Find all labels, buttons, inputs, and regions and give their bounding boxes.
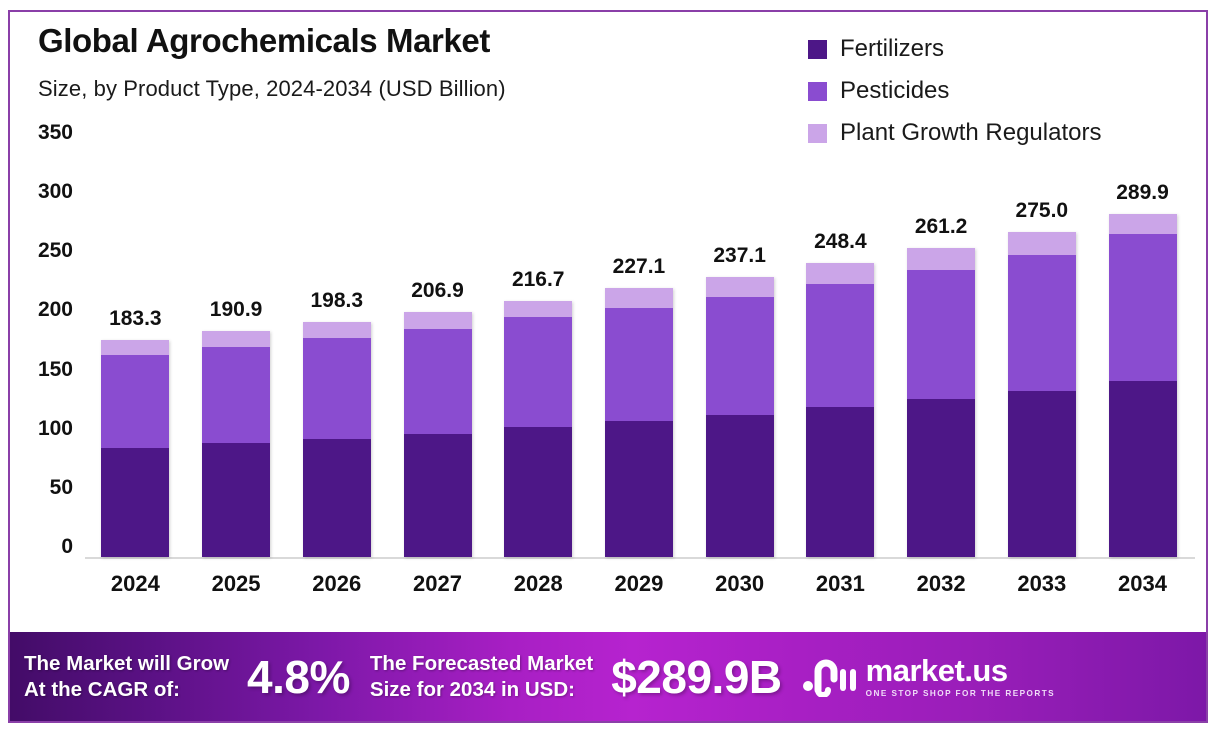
x-axis-tick-label: 2029: [589, 562, 690, 606]
bar-segment-fertilizers[interactable]: [404, 434, 472, 557]
bar-segment-pesticides[interactable]: [907, 270, 975, 400]
x-axis-tick-label: 2028: [488, 562, 589, 606]
chart-legend: FertilizersPesticidesPlant Growth Regula…: [808, 28, 1101, 154]
cagr-value: 4.8%: [247, 650, 350, 704]
bar-column[interactable]: 227.1: [589, 143, 690, 557]
bar-segment-pesticides[interactable]: [605, 308, 673, 421]
bar-value-label: 198.3: [311, 289, 364, 313]
legend-item[interactable]: Fertilizers: [808, 28, 1101, 70]
bar-segment-fertilizers[interactable]: [504, 427, 572, 557]
bar-segment-plant-growth-regulators[interactable]: [303, 322, 371, 338]
x-axis-tick-label: 2027: [387, 562, 488, 606]
bar-segment-plant-growth-regulators[interactable]: [202, 331, 270, 346]
bar-segment-plant-growth-regulators[interactable]: [101, 340, 169, 355]
bar-segment-plant-growth-regulators[interactable]: [504, 301, 572, 318]
forecast-label-line2: Size for 2034 in USD:: [370, 677, 593, 703]
y-axis-tick-label: 0: [61, 535, 73, 559]
stacked-bar[interactable]: [404, 312, 472, 557]
square-swatch-icon: [808, 40, 827, 59]
y-axis-tick-label: 300: [38, 180, 73, 204]
bar-segment-fertilizers[interactable]: [1008, 391, 1076, 557]
page-title: Global Agrochemicals Market: [38, 22, 490, 60]
cagr-label: The Market will Grow At the CAGR of:: [24, 651, 229, 702]
bar-value-label: 248.4: [814, 230, 867, 254]
bar-value-label: 227.1: [613, 255, 666, 279]
bar-column[interactable]: 289.9: [1092, 143, 1193, 557]
x-axis-tick-label: 2034: [1092, 562, 1193, 606]
stacked-bar[interactable]: [303, 322, 371, 557]
bar-value-label: 183.3: [109, 307, 162, 331]
stacked-bar[interactable]: [605, 288, 673, 557]
stacked-bar[interactable]: [202, 331, 270, 557]
cagr-label-line1: The Market will Grow: [24, 651, 229, 677]
bar-segment-pesticides[interactable]: [202, 347, 270, 444]
cagr-label-line2: At the CAGR of:: [24, 677, 229, 703]
bar-segment-plant-growth-regulators[interactable]: [806, 263, 874, 284]
bar-value-label: 190.9: [210, 298, 263, 322]
footer-banner: The Market will Grow At the CAGR of: 4.8…: [10, 632, 1206, 721]
bar-column[interactable]: 206.9: [387, 143, 488, 557]
x-axis-tick-label: 2025: [186, 562, 287, 606]
bar-segment-pesticides[interactable]: [504, 317, 572, 427]
bar-segment-fertilizers[interactable]: [907, 399, 975, 557]
bar-segment-fertilizers[interactable]: [706, 415, 774, 557]
stacked-bar[interactable]: [806, 263, 874, 557]
bar-segment-plant-growth-regulators[interactable]: [706, 277, 774, 297]
x-axis-tick-label: 2033: [991, 562, 1092, 606]
y-axis-tick-label: 150: [38, 358, 73, 382]
bar-value-label: 206.9: [411, 279, 464, 303]
bar-segment-plant-growth-regulators[interactable]: [1109, 214, 1177, 234]
stacked-bar[interactable]: [1109, 214, 1177, 557]
bar-column[interactable]: 198.3: [286, 143, 387, 557]
bar-segment-fertilizers[interactable]: [605, 421, 673, 557]
bar-value-label: 216.7: [512, 268, 565, 292]
bar-segment-pesticides[interactable]: [706, 297, 774, 415]
y-axis: 050100150200250300350: [0, 133, 85, 557]
x-axis-tick-label: 2031: [790, 562, 891, 606]
bar-column[interactable]: 275.0: [991, 143, 1092, 557]
bar-segment-fertilizers[interactable]: [806, 407, 874, 557]
bar-column[interactable]: 261.2: [891, 143, 992, 557]
bar-segment-pesticides[interactable]: [1109, 234, 1177, 381]
market-us-logo[interactable]: market.us ONE STOP SHOP FOR THE REPORTS: [802, 655, 1055, 698]
bar-value-label: 275.0: [1016, 199, 1069, 223]
bar-segment-pesticides[interactable]: [1008, 255, 1076, 391]
bar-segment-plant-growth-regulators[interactable]: [907, 248, 975, 270]
bar-segment-pesticides[interactable]: [404, 329, 472, 434]
x-axis-tick-label: 2032: [891, 562, 992, 606]
legend-item-label: Fertilizers: [840, 35, 944, 63]
bar-value-label: 289.9: [1116, 181, 1169, 205]
logo-name: market.us: [866, 655, 1055, 686]
x-axis-labels: 2024202520262027202820292030203120322033…: [85, 562, 1193, 606]
forecast-label: The Forecasted Market Size for 2034 in U…: [370, 651, 593, 702]
y-axis-tick-label: 100: [38, 417, 73, 441]
forecast-value: $289.9B: [611, 650, 781, 704]
bar-segment-pesticides[interactable]: [806, 284, 874, 407]
y-axis-tick-label: 200: [38, 298, 73, 322]
bar-column[interactable]: 237.1: [689, 143, 790, 557]
stacked-bar[interactable]: [504, 301, 572, 557]
bar-segment-plant-growth-regulators[interactable]: [1008, 232, 1076, 255]
bar-series-group: 183.3190.9198.3206.9216.7227.1237.1248.4…: [85, 143, 1193, 557]
logo-tagline: ONE STOP SHOP FOR THE REPORTS: [866, 689, 1055, 698]
x-axis-line: [85, 557, 1195, 559]
bar-segment-fertilizers[interactable]: [101, 448, 169, 557]
bar-segment-fertilizers[interactable]: [202, 443, 270, 557]
stacked-bar[interactable]: [706, 277, 774, 557]
x-axis-tick-label: 2030: [689, 562, 790, 606]
chart-infographic: Global Agrochemicals Market Size, by Pro…: [0, 0, 1216, 733]
y-axis-tick-label: 50: [50, 476, 73, 500]
bar-segment-fertilizers[interactable]: [1109, 381, 1177, 557]
forecast-label-line1: The Forecasted Market: [370, 651, 593, 677]
x-axis-tick-label: 2026: [286, 562, 387, 606]
bar-segment-pesticides[interactable]: [101, 355, 169, 448]
bar-column[interactable]: 183.3: [85, 143, 186, 557]
y-axis-tick-label: 350: [38, 121, 73, 145]
stacked-bar[interactable]: [907, 248, 975, 557]
bar-segment-fertilizers[interactable]: [303, 439, 371, 557]
logo-text: market.us ONE STOP SHOP FOR THE REPORTS: [866, 655, 1055, 698]
legend-item[interactable]: Pesticides: [808, 70, 1101, 112]
bar-value-label: 261.2: [915, 215, 968, 239]
bar-segment-pesticides[interactable]: [303, 338, 371, 439]
bar-column[interactable]: 216.7: [488, 143, 589, 557]
x-axis-tick-label: 2024: [85, 562, 186, 606]
square-swatch-icon: [808, 124, 827, 143]
market-us-logo-icon: [802, 657, 858, 697]
bar-segment-plant-growth-regulators[interactable]: [404, 312, 472, 329]
y-axis-tick-label: 250: [38, 239, 73, 263]
bar-column[interactable]: 248.4: [790, 143, 891, 557]
bar-column[interactable]: 190.9: [186, 143, 287, 557]
bar-value-label: 237.1: [713, 244, 766, 268]
legend-item-label: Pesticides: [840, 77, 949, 105]
page-subtitle: Size, by Product Type, 2024-2034 (USD Bi…: [38, 76, 506, 102]
stacked-bar[interactable]: [1008, 232, 1076, 557]
square-swatch-icon: [808, 82, 827, 101]
bar-segment-plant-growth-regulators[interactable]: [605, 288, 673, 307]
stacked-bar[interactable]: [101, 340, 169, 557]
